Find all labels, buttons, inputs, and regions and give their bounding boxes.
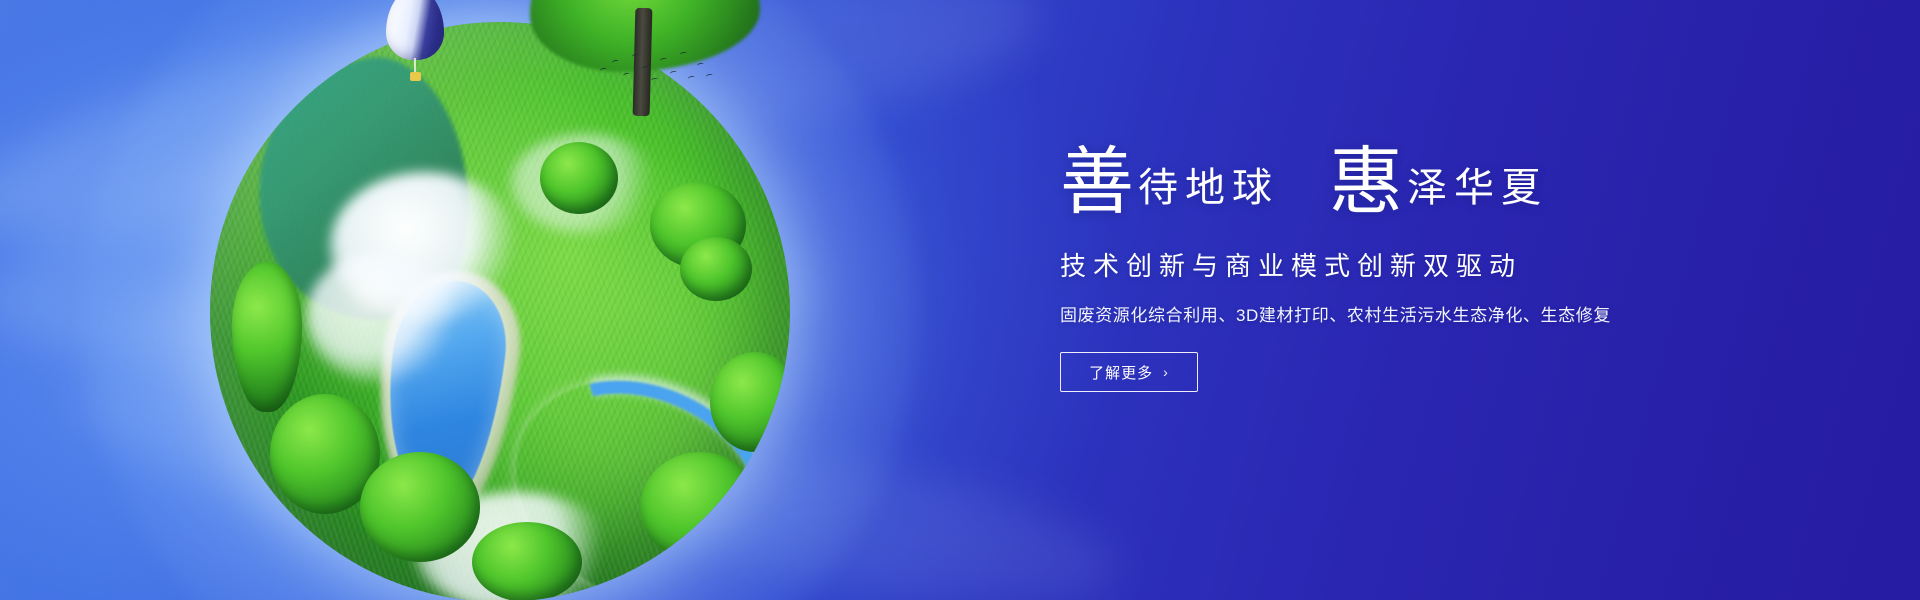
bird-icon bbox=[612, 59, 620, 64]
bird-icon bbox=[632, 53, 640, 58]
bird-icon bbox=[651, 77, 659, 82]
headline-part1-small: 待地球 bbox=[1138, 168, 1279, 208]
tree-bush bbox=[640, 452, 760, 562]
bird-icon bbox=[642, 65, 650, 70]
hero-subtitle: 技术创新与商业模式创新双驱动 bbox=[1060, 246, 1680, 283]
tree-bush bbox=[680, 237, 752, 301]
bird-icon bbox=[680, 51, 688, 56]
hero-description: 固废资源化综合利用、3D建材打印、农村生活污水生态净化、生态修复 bbox=[1060, 301, 1680, 326]
bird-icon bbox=[600, 67, 608, 72]
hero-banner: 善 待地球 惠 泽华夏 技术创新与商业模式创新双驱动 固废资源化综合利用、3D建… bbox=[0, 0, 1920, 600]
earth-globe-illustration bbox=[150, 0, 850, 600]
balloon-envelope bbox=[386, 0, 444, 60]
tree-bush bbox=[472, 522, 582, 600]
globe-sphere bbox=[210, 22, 790, 600]
learn-more-button[interactable]: 了解更多 › bbox=[1060, 352, 1198, 392]
hero-content: 善 待地球 惠 泽华夏 技术创新与商业模式创新双驱动 固废资源化综合利用、3D建… bbox=[1060, 140, 1680, 392]
tree-bush bbox=[540, 142, 618, 214]
tree-bush bbox=[710, 352, 790, 452]
balloon-basket bbox=[410, 72, 421, 81]
bird-icon bbox=[688, 75, 696, 80]
headline-part2-large: 惠 bbox=[1329, 146, 1403, 220]
headline-part2-small: 泽华夏 bbox=[1407, 168, 1548, 208]
tree-bush bbox=[360, 452, 480, 562]
learn-more-label: 了解更多 bbox=[1089, 362, 1153, 383]
planet-cloud bbox=[306, 252, 456, 382]
bird-icon bbox=[660, 57, 668, 62]
headline-part1-large: 善 bbox=[1060, 146, 1134, 220]
flock-of-birds bbox=[596, 46, 716, 92]
bird-icon bbox=[697, 62, 705, 67]
bird-icon bbox=[623, 72, 631, 77]
hot-air-balloon bbox=[386, 0, 446, 84]
bird-icon bbox=[670, 70, 678, 75]
chevron-right-icon: › bbox=[1163, 365, 1169, 379]
headline: 善 待地球 惠 泽华夏 bbox=[1060, 140, 1680, 232]
bird-icon bbox=[706, 73, 714, 78]
